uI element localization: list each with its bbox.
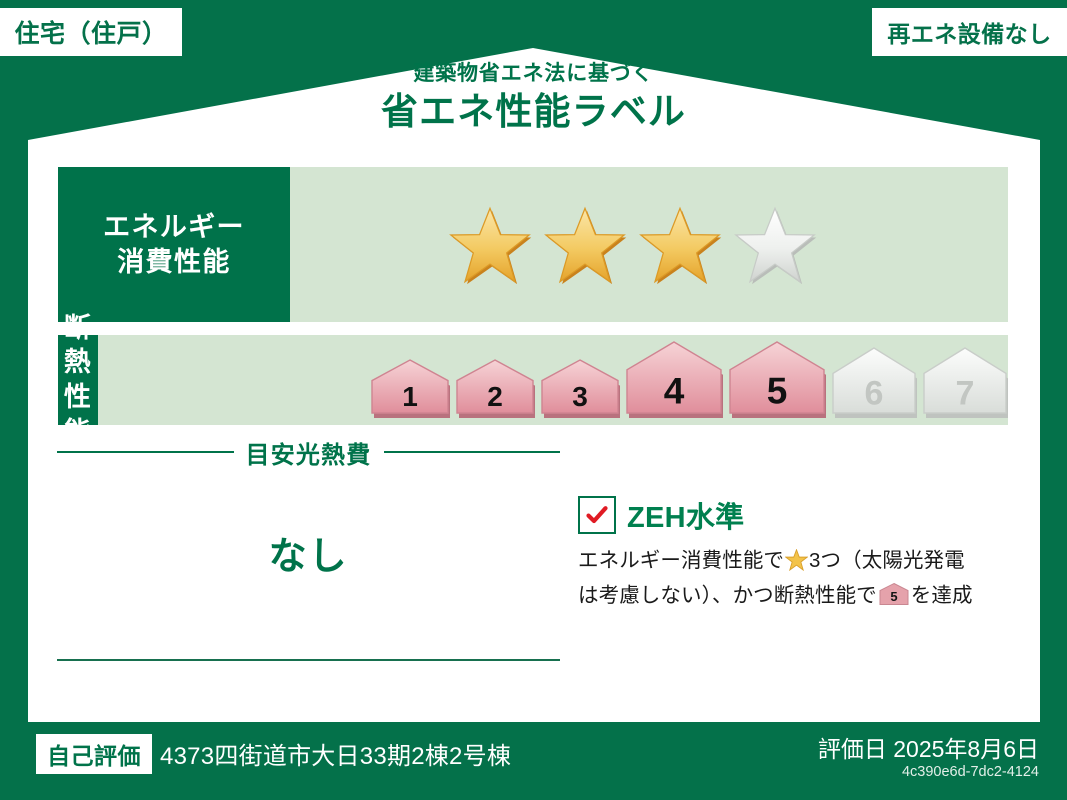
badge-building-type: 住宅（住戸）	[0, 8, 182, 56]
heading-rule-right	[384, 451, 561, 453]
zeh-standard-block: ZEH水準 エネルギー消費性能で 3つ（太陽光発電 は考慮しない）、かつ断熱性能…	[578, 494, 1018, 615]
energy-performance-label-line2: 消費性能	[117, 245, 230, 280]
energy-performance-label-line1: エネルギー	[103, 210, 245, 245]
document-id: 4c390e6d-7dc2-4124	[902, 764, 1039, 780]
footer: 自己評価 4373四街道市大日33期2棟2号棟 評価日 2025年8月6日 4c…	[0, 722, 1067, 800]
zeh-desc-star-count: 3つ（太陽光発電	[809, 549, 965, 572]
title-main: 省エネ性能ラベル	[0, 92, 1067, 133]
insulation-level-number: 2	[487, 381, 503, 412]
insulation-performance-row: 断熱性能 1234567	[58, 335, 1008, 425]
insulation-level-number: 7	[956, 374, 975, 412]
utility-cost-value: なし	[57, 525, 560, 580]
insulation-house-empty: 7	[922, 347, 1008, 419]
evaluation-type-badge: 自己評価	[36, 734, 152, 774]
checkbox-checked-icon	[578, 496, 616, 534]
heading-rule-left	[57, 451, 234, 453]
insulation-performance-label: 断熱性能	[58, 335, 98, 425]
utility-cost-heading-text: 目安光熱費	[246, 435, 372, 470]
insulation-house-filled: 5	[728, 341, 826, 419]
insulation-house-filled: 1	[370, 359, 450, 419]
zeh-title: ZEH水準	[627, 494, 744, 536]
insulation-level-number: 3	[572, 381, 588, 412]
star-empty-icon	[733, 205, 817, 285]
insulation-house-filled: 2	[455, 359, 535, 419]
energy-performance-body	[290, 167, 1008, 322]
insulation-level-scale: 1234567	[370, 341, 1008, 419]
star-rating	[448, 205, 817, 285]
title-subtitle: 建築物省エネ法に基づく	[0, 62, 1067, 85]
badge-renewable-energy: 再エネ設備なし	[872, 8, 1067, 56]
insulation-house-filled: 4	[625, 341, 723, 419]
insulation-level-number: 6	[865, 374, 884, 412]
star-filled-icon	[543, 205, 627, 285]
energy-performance-row: エネルギー 消費性能	[58, 167, 1008, 322]
utility-cost-heading: 目安光熱費	[57, 438, 560, 466]
zeh-description: エネルギー消費性能で 3つ（太陽光発電 は考慮しない）、かつ断熱性能で 5 を達…	[578, 545, 1018, 615]
star-icon	[785, 549, 808, 580]
insulation-level-icon-value: 5	[890, 589, 897, 604]
page-title: 建築物省エネ法に基づく 省エネ性能ラベル	[0, 62, 1067, 133]
insulation-level-number: 4	[664, 371, 685, 412]
energy-label-root: 住宅（住戸） 再エネ設備なし 建築物省エネ法に基づく 省エネ性能ラベル エネルギ…	[0, 0, 1067, 800]
property-address: 4373四街道市大日33期2棟2号棟	[160, 736, 511, 771]
insulation-level-number: 1	[402, 381, 418, 412]
insulation-house-empty: 6	[831, 347, 917, 419]
insulation-house-filled: 3	[540, 359, 620, 419]
energy-performance-label: エネルギー 消費性能	[58, 167, 290, 322]
utility-cost-bottom-rule	[57, 659, 560, 661]
zeh-title-row: ZEH水準	[578, 494, 1018, 536]
insulation-level-number: 5	[767, 371, 788, 412]
insulation-level-icon: 5	[878, 582, 910, 615]
insulation-performance-body: 1234567	[98, 335, 1008, 425]
insulation-performance-label-text: 断熱性能	[58, 311, 98, 449]
evaluation-date: 評価日 2025年8月6日	[818, 730, 1039, 764]
badge-renewable-energy-label: 再エネ設備なし	[887, 15, 1051, 49]
zeh-desc-part3: を達成	[911, 584, 973, 607]
star-filled-icon	[448, 205, 532, 285]
zeh-desc-part2: は考慮しない）、かつ断熱性能で	[578, 584, 877, 607]
badge-building-type-label: 住宅（住戸）	[14, 14, 167, 50]
zeh-desc-part1: エネルギー消費性能で	[578, 549, 784, 572]
star-filled-icon	[638, 205, 722, 285]
